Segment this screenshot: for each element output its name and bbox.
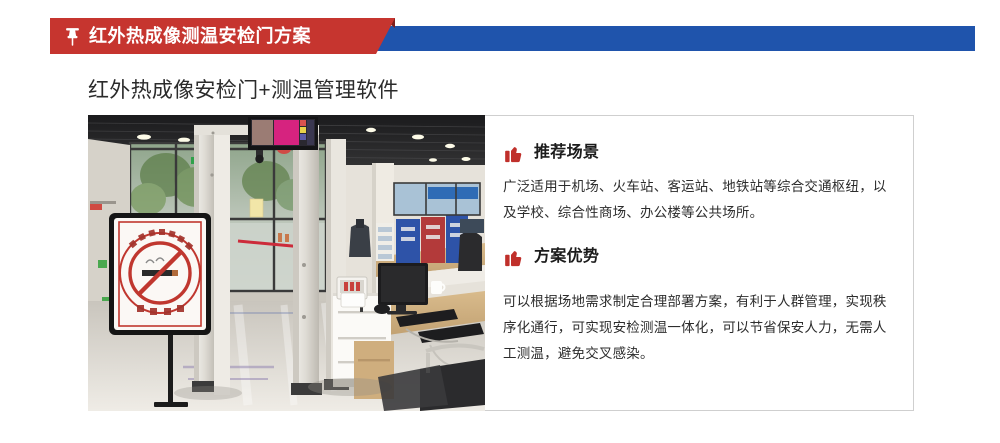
solution-advantages-text: 可以根据场地需求制定合理部署方案，有利于人群管理，实现秩序化通行，可实现安检测温… [503,289,891,368]
ribbon-blue-bar [330,26,975,51]
block-title: 推荐场景 [534,145,599,161]
solution-advantages-heading: 方案优势 [503,247,891,267]
ribbon-banner: 红外热成像测温安检门方案 [0,0,1000,66]
block-title: 方案优势 [534,249,599,265]
info-panel: 推荐场景 广泛适用于机场、火车站、客运站、地铁站等综合交通枢纽，以及学校、综合性… [485,115,914,411]
content-row: 推荐场景 广泛适用于机场、火车站、客运站、地铁站等综合交通枢纽，以及学校、综合性… [88,115,914,411]
thumbs-up-icon [503,143,523,163]
pushpin-icon [64,27,81,47]
page-title: 红外热成像安检门+测温管理软件 [88,74,399,104]
scene-photo [88,115,485,411]
recommended-scenarios-heading: 推荐场景 [503,143,891,163]
page-root: 红外热成像测温安检门方案 红外热成像安检门+测温管理软件 [0,0,1000,443]
recommended-scenarios-text: 广泛适用于机场、火车站、客运站、地铁站等综合交通枢纽，以及学校、综合性商场、办公… [503,174,891,227]
ribbon-title: 红外热成像测温安检门方案 [89,27,311,45]
thumbs-up-icon [503,247,523,267]
ribbon-red-label: 红外热成像测温安检门方案 [50,18,395,54]
